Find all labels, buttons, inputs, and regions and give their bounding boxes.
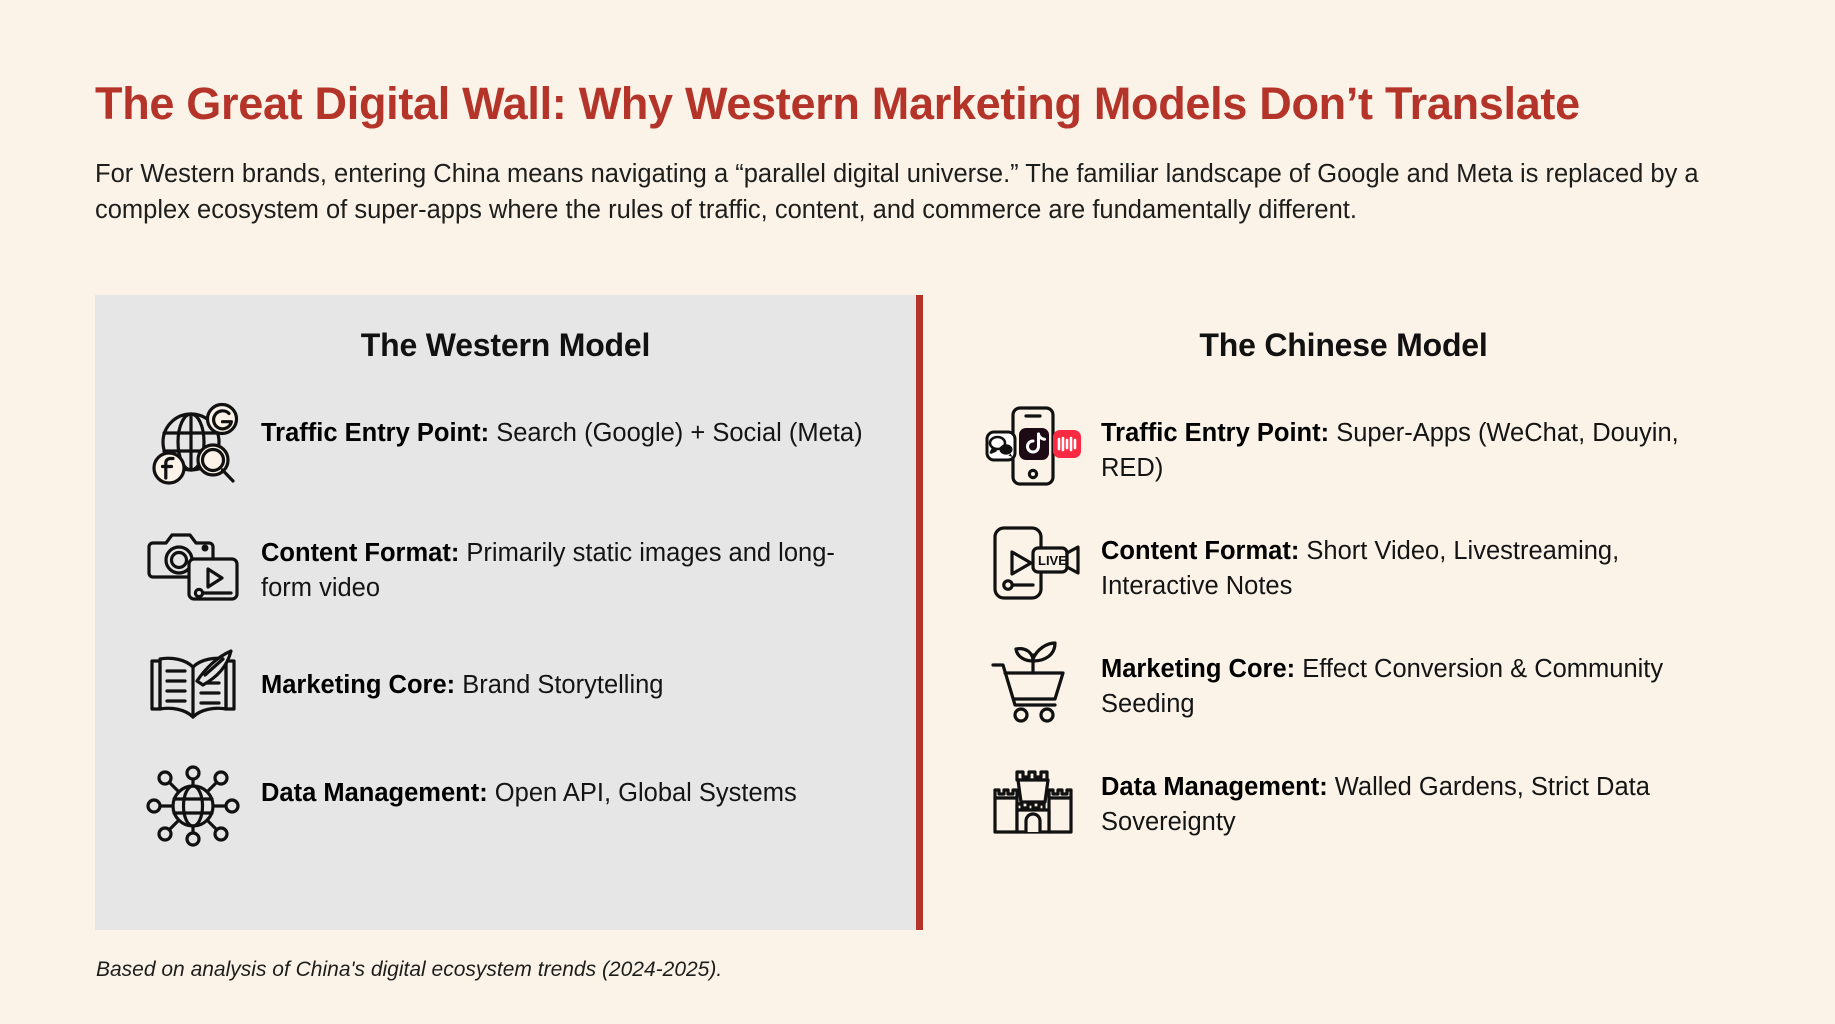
phone-super-apps-icon	[979, 398, 1087, 494]
western-item-text: Data Management: Open API, Global System…	[247, 758, 797, 811]
western-item-label: Content Format:	[261, 539, 459, 567]
western-item-traffic-entry-point: Traffic Entry Point: Search (Google) + S…	[139, 398, 872, 494]
globe-search-social-icon	[139, 398, 247, 494]
header: The Great Digital Wall: Why Western Mark…	[95, 78, 1775, 228]
western-item-value: Brand Storytelling	[455, 671, 663, 699]
chinese-item-label: Data Management:	[1101, 773, 1328, 801]
western-model-heading: The Western Model	[139, 327, 872, 364]
chinese-item-data-management: Data Management: Walled Gardens, Strict …	[979, 752, 1728, 848]
globe-network-nodes-icon	[139, 758, 247, 854]
infographic-canvas: The Great Digital Wall: Why Western Mark…	[0, 0, 1835, 1024]
camera-video-player-icon	[139, 518, 247, 614]
western-item-text: Marketing Core: Brand Storytelling	[247, 638, 663, 703]
chinese-item-label: Content Format:	[1101, 537, 1299, 565]
western-item-marketing-core: Marketing Core: Brand Storytelling	[139, 638, 872, 734]
castle-icon	[979, 752, 1087, 848]
phone-live-video-icon: LIVE	[979, 516, 1087, 612]
western-item-text: Traffic Entry Point: Search (Google) + S…	[247, 398, 863, 451]
chinese-item-text: Marketing Core: Effect Conversion & Comm…	[1087, 634, 1728, 721]
chinese-item-traffic-entry-point: Traffic Entry Point: Super-Apps (WeChat,…	[979, 398, 1728, 494]
chinese-item-text: Data Management: Walled Gardens, Strict …	[1087, 752, 1728, 839]
chinese-item-content-format: LIVE Content Format: Short Video, Livest…	[979, 516, 1728, 612]
chinese-item-label: Traffic Entry Point:	[1101, 419, 1329, 447]
chinese-item-marketing-core: Marketing Core: Effect Conversion & Comm…	[979, 634, 1728, 730]
chinese-model-panel: The Chinese Model	[923, 295, 1768, 930]
western-item-data-management: Data Management: Open API, Global System…	[139, 758, 872, 854]
open-book-quill-icon	[139, 638, 247, 734]
chinese-item-text: Traffic Entry Point: Super-Apps (WeChat,…	[1087, 398, 1728, 485]
western-item-value: Search (Google) + Social (Meta)	[489, 419, 862, 447]
footnote: Based on analysis of China's digital eco…	[96, 958, 722, 982]
western-item-label: Data Management:	[261, 779, 488, 807]
svg-text:LIVE: LIVE	[1038, 553, 1067, 568]
shopping-cart-sprout-icon	[979, 634, 1087, 730]
comparison-columns: The Western Model	[95, 295, 1775, 930]
western-model-panel: The Western Model	[95, 295, 923, 930]
page-subtitle: For Western brands, entering China means…	[95, 156, 1755, 228]
western-item-text: Content Format: Primarily static images …	[247, 518, 872, 605]
page-title: The Great Digital Wall: Why Western Mark…	[95, 78, 1775, 130]
chinese-item-label: Marketing Core:	[1101, 655, 1295, 683]
western-item-label: Traffic Entry Point:	[261, 419, 489, 447]
western-item-value: Open API, Global Systems	[488, 779, 797, 807]
chinese-item-text: Content Format: Short Video, Livestreami…	[1087, 516, 1728, 603]
chinese-model-heading: The Chinese Model	[979, 327, 1728, 364]
western-item-label: Marketing Core:	[261, 671, 455, 699]
western-item-content-format: Content Format: Primarily static images …	[139, 518, 872, 614]
